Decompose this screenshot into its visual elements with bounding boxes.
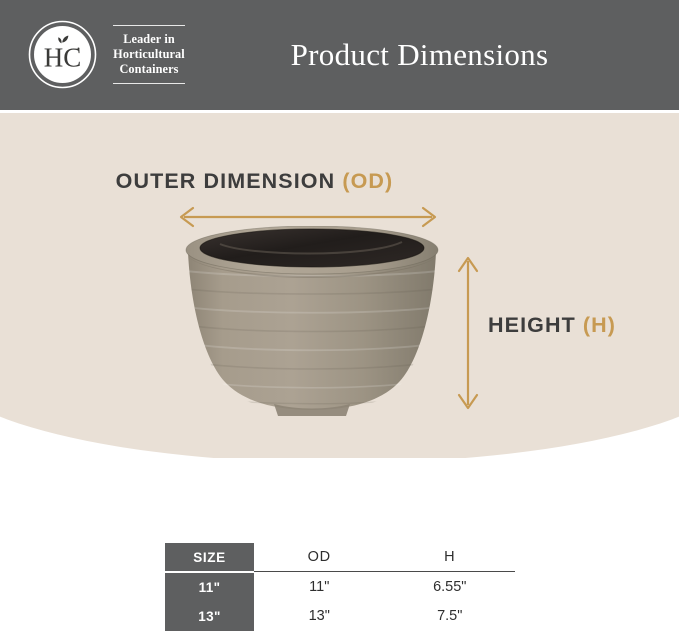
table-header-h: H [385,543,516,571]
table-header-size: SIZE [165,543,254,571]
header-bar: HC Leader in Horticultural Containers Pr… [0,0,679,110]
brand-logo-group: HC Leader in Horticultural Containers [28,20,187,89]
table-row: 11" 6.55" [254,572,515,601]
table-row: 11" [165,573,254,602]
outer-dimension-text: OUTER DIMENSION [116,169,336,193]
planter-pot-image [178,226,446,416]
outer-dimension-arrow-icon [176,206,440,228]
hc-circle-leaf-logo-icon: HC [28,20,97,89]
dimensions-table: SIZE 11" 13" OD H 11" 6.55" 13" 7.5" [165,543,515,631]
diagram-panel: OUTER DIMENSION (OD) [0,113,679,458]
table-size-column: 11" 13" [165,573,254,631]
height-abbrev: (H) [583,313,616,337]
outer-dimension-label: OUTER DIMENSION (OD) [0,169,679,194]
table-header-row: OD H [254,543,515,572]
tagline-line-3: Containers [113,62,185,77]
table-header-od: OD [254,543,385,571]
table-row: 13" [165,602,254,631]
height-text: HEIGHT [488,313,576,337]
height-label: HEIGHT (H) [488,313,616,338]
table-cell-h: 7.5" [385,601,516,630]
tagline-line-2: Horticultural [113,47,185,62]
svg-text:HC: HC [44,43,82,73]
tagline-rule-bottom [113,83,185,84]
tagline-rule-top [113,25,185,26]
table-cell-h: 6.55" [385,572,516,601]
height-arrow-icon [456,253,480,413]
table-cell-od: 13" [254,601,385,630]
brand-tagline: Leader in Horticultural Containers [111,21,187,88]
table-value-columns: OD H 11" 6.55" 13" 7.5" [254,543,515,631]
table-cell-od: 11" [254,572,385,601]
tagline-line-1: Leader in [113,32,185,47]
table-row: 13" 7.5" [254,601,515,630]
outer-dimension-abbrev: (OD) [342,169,393,193]
